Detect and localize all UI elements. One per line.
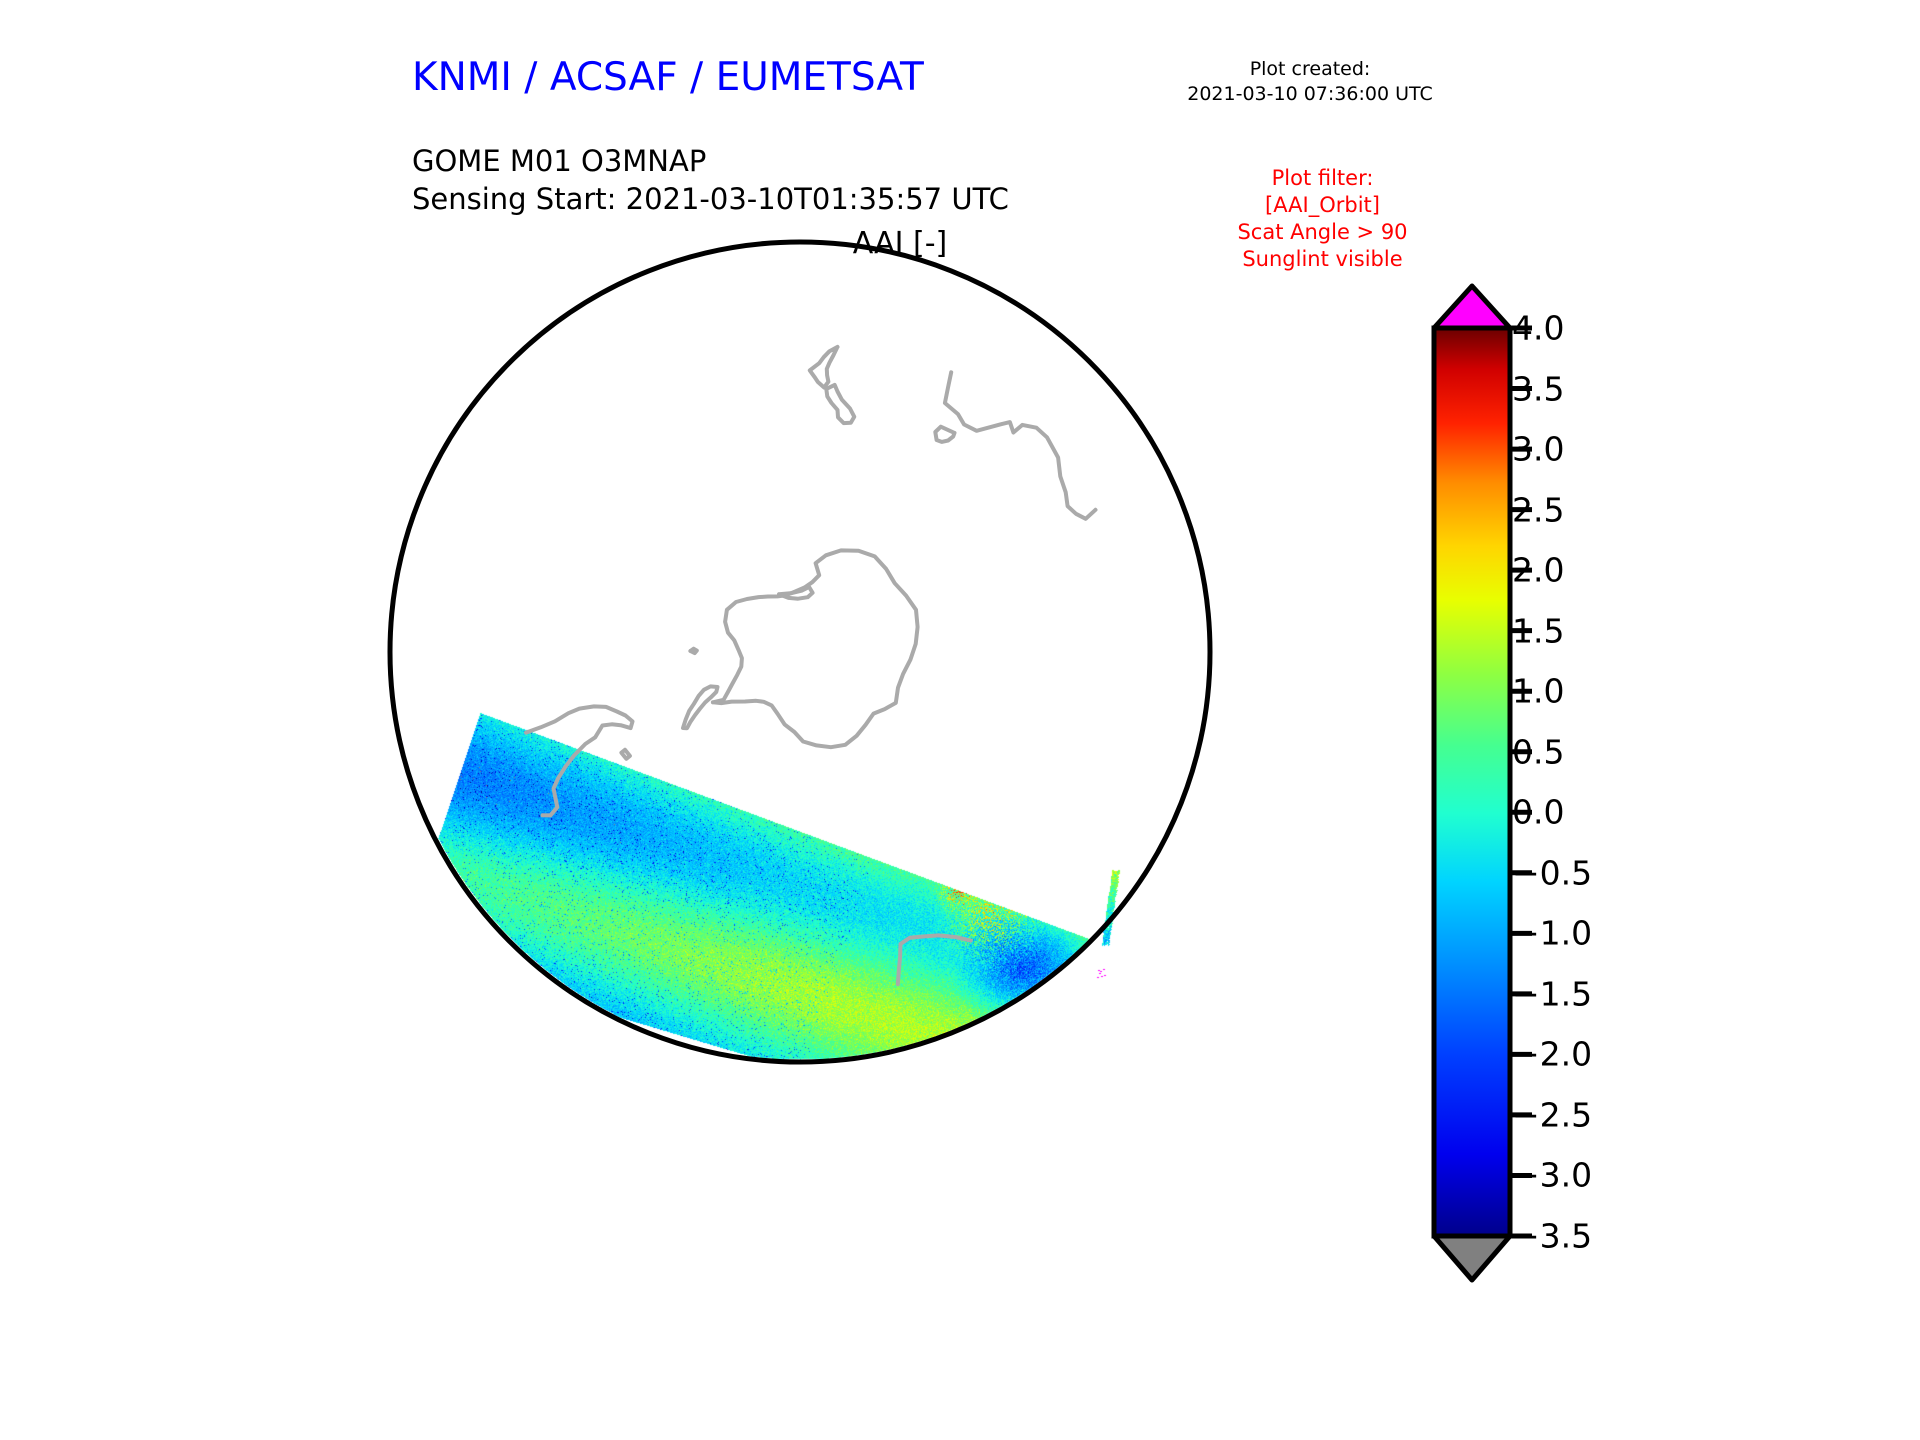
plot-filter-dataset: [AAI_Orbit]: [1180, 192, 1465, 219]
colorbar-tick-label: 4.0: [1512, 309, 1564, 348]
plot-filter-label: Plot filter:: [1180, 165, 1465, 192]
colorbar-tick-label: −1.0: [1512, 914, 1592, 953]
map-panel: [380, 232, 1220, 1072]
colorbar-tick-label: −1.5: [1512, 974, 1592, 1013]
colorbar-tick-label: −3.5: [1512, 1217, 1592, 1256]
colorbar-tick-label: 2.5: [1512, 490, 1564, 529]
product-name: GOME M01 O3MNAP: [412, 140, 706, 182]
coastline-path: [526, 706, 633, 815]
plot-filter-sunglint: Sunglint visible: [1180, 246, 1465, 273]
coastline-path: [621, 750, 630, 759]
plot-filter-block: Plot filter: [AAI_Orbit] Scat Angle > 90…: [1180, 165, 1465, 273]
coastline-path: [945, 372, 1096, 519]
colorbar-tick-label: 1.5: [1512, 611, 1564, 650]
coastline-path: [690, 649, 696, 653]
coastline-path: [810, 347, 838, 388]
coastline-path: [935, 427, 954, 442]
colorbar-tick-label: 2.0: [1512, 551, 1564, 590]
colorbar-over-range-arrow: [1434, 286, 1510, 328]
plot-created-block: Plot created: 2021-03-10 07:36:00 UTC: [1160, 57, 1460, 107]
colorbar-tick-label: 0.0: [1512, 793, 1564, 832]
plot-created-label: Plot created:: [1160, 57, 1460, 82]
coastline-path: [713, 550, 918, 747]
colorbar-tick-label: −3.0: [1512, 1156, 1592, 1195]
plot-filter-scat-angle: Scat Angle > 90: [1180, 219, 1465, 246]
sensing-start: Sensing Start: 2021-03-10T01:35:57 UTC: [412, 182, 1009, 216]
coastline-path: [826, 385, 854, 423]
coastline-group: [526, 347, 1096, 984]
coastline-path: [898, 935, 971, 984]
colorbar-panel: 4.03.53.02.52.01.51.00.50.0−0.5−1.0−1.5−…: [1420, 280, 1740, 1340]
colorbar-tick-label: 0.5: [1512, 732, 1564, 771]
colorbar-under-range-arrow: [1434, 1236, 1510, 1280]
plot-figure: KNMI / ACSAF / EUMETSAT Plot created: 20…: [0, 0, 1920, 1440]
colorbar-tick-label: −2.0: [1512, 1035, 1592, 1074]
plot-created-value: 2021-03-10 07:36:00 UTC: [1160, 82, 1460, 107]
colorbar-tick-label: 3.0: [1512, 430, 1564, 469]
map-boundary-circle: [390, 242, 1210, 1062]
coastline-path: [779, 587, 813, 599]
agency-brand-title: KNMI / ACSAF / EUMETSAT: [412, 55, 924, 100]
colorbar-tick-label: −2.5: [1512, 1095, 1592, 1134]
map-vector-layer: [380, 232, 1220, 1072]
colorbar-tick-label: −0.5: [1512, 853, 1592, 892]
coastline-path: [683, 686, 718, 728]
colorbar-tick-label: 1.0: [1512, 672, 1564, 711]
colorbar-gradient-bar: [1434, 328, 1510, 1236]
colorbar-tick-label: 3.5: [1512, 369, 1564, 408]
